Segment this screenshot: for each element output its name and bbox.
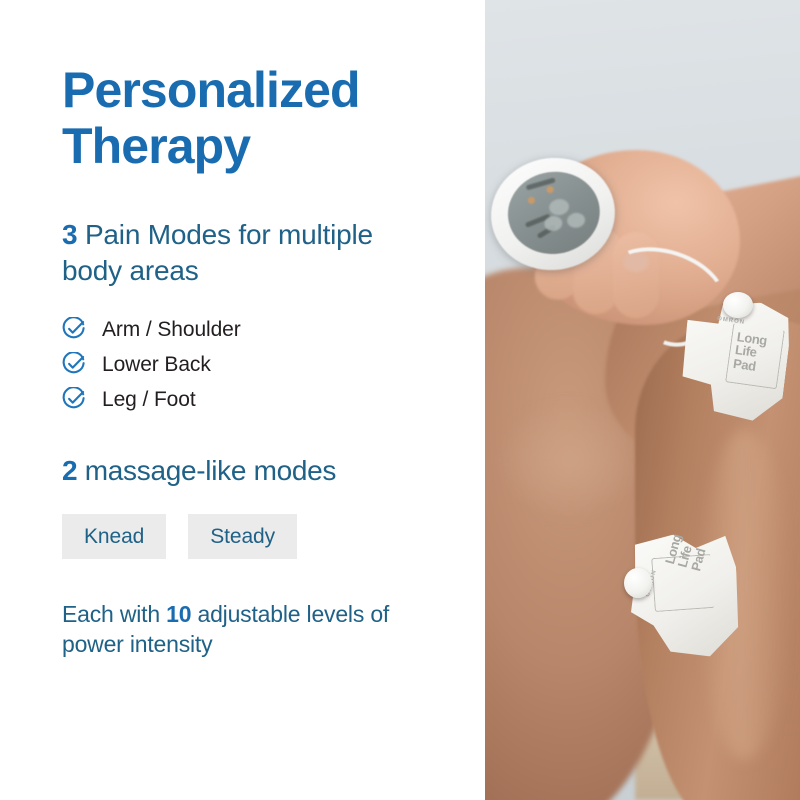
promo-page: Personalized Therapy 3 Pain Modes for mu… — [0, 0, 800, 800]
headline-line-2: Therapy — [62, 118, 462, 174]
photo-overlay — [485, 0, 800, 800]
massage-modes-text: massage-like modes — [77, 455, 336, 486]
massage-modes-count: 2 — [62, 455, 77, 486]
intensity-footnote: Each with 10 adjustable levels of power … — [62, 599, 437, 660]
check-circle-icon — [62, 352, 86, 376]
list-item-label: Arm / Shoulder — [102, 319, 241, 340]
pain-modes-count: 3 — [62, 219, 77, 250]
list-item-label: Lower Back — [102, 354, 211, 375]
check-circle-icon — [62, 317, 86, 341]
headline-line-1: Personalized — [62, 62, 462, 118]
massage-mode-buttons: Knead Steady — [62, 514, 485, 559]
massage-modes-subhead: 2 massage-like modes — [62, 455, 485, 487]
pain-modes-text: Pain Modes for multiple body areas — [62, 219, 373, 286]
list-item-label: Leg / Foot — [102, 389, 196, 410]
list-item: Arm / Shoulder — [62, 316, 485, 343]
mode-button-steady[interactable]: Steady — [188, 514, 297, 559]
mode-button-knead[interactable]: Knead — [62, 514, 166, 559]
copy-panel: Personalized Therapy 3 Pain Modes for mu… — [0, 0, 485, 800]
product-photo: OMRON Long Life Pad OMRON Long Life Pad — [485, 0, 800, 800]
pain-modes-subhead: 3 Pain Modes for multiple body areas — [62, 217, 422, 289]
intensity-level-count: 10 — [166, 601, 191, 627]
body-areas-list: Arm / Shoulder Lower Back Leg / Foot — [62, 316, 485, 413]
list-item: Leg / Foot — [62, 386, 485, 413]
list-item: Lower Back — [62, 351, 485, 378]
check-circle-icon — [62, 387, 86, 411]
footnote-prefix: Each with — [62, 601, 166, 627]
page-title: Personalized Therapy — [62, 62, 462, 174]
